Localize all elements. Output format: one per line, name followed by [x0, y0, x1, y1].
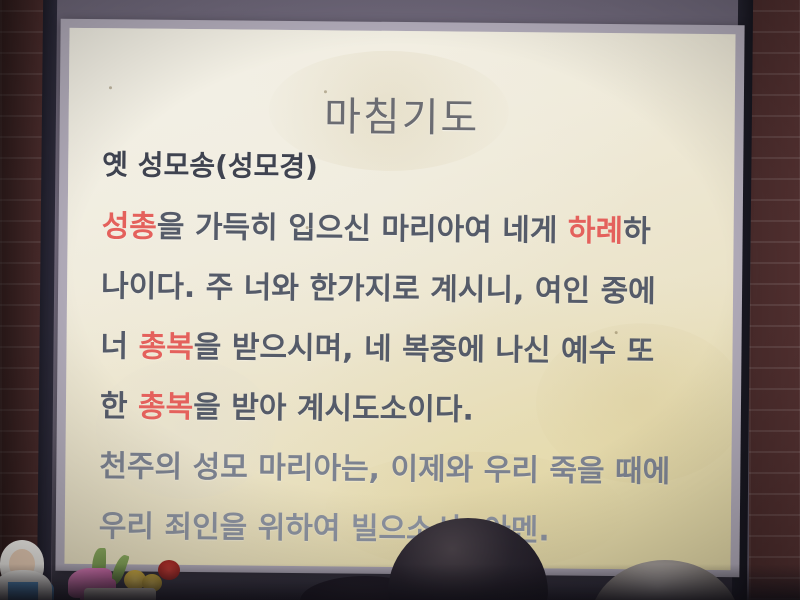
- highlighted-word: 총복: [138, 329, 194, 365]
- prayer-line-4: 한 총복을 받아 계시도소이다.: [100, 377, 713, 443]
- highlighted-word: 성총: [102, 209, 158, 245]
- prayer-line-5: 천주의 성모 마리아는, 이제와 우리 죽을 때에: [99, 437, 712, 503]
- text-run: 을 가득히 입으신 마리아여 네게: [157, 210, 568, 249]
- text-run: 을 받아 계시도소이다.: [193, 390, 474, 428]
- projection-screen-frame: 마침기도 옛 성모송(성모경) 성총을 가득히 입으신 마리아여 네게 하례하 …: [55, 19, 744, 578]
- foreground-shadow: [0, 564, 800, 600]
- text-run: 하: [623, 214, 651, 249]
- screenshot-root: 마침기도 옛 성모송(성모경) 성총을 가득히 입으신 마리아여 네게 하례하 …: [0, 0, 800, 600]
- slide-subtitle: 옛 성모송(성모경): [102, 143, 714, 189]
- highlighted-word: 총복: [138, 389, 194, 425]
- prayer-line-3: 너 총복을 받으시며, 네 복중에 나신 예수 또: [100, 317, 713, 383]
- highlighted-word: 하례: [568, 214, 624, 250]
- prayer-line-2: 나이다. 주 너와 한가지로 계시니, 여인 중에: [101, 257, 714, 323]
- text-run: 천주의 성모 마리아는, 이제와 우리 죽을 때에: [99, 449, 670, 489]
- text-run: 을 받으시며, 네 복중에 나신 예수 또: [194, 330, 655, 369]
- slide-body: 옛 성모송(성모경) 성총을 가득히 입으신 마리아여 네게 하례하 나이다. …: [98, 143, 714, 563]
- wall-shadow-right: [749, 0, 800, 600]
- prayer-line-1: 성총을 가득히 입으신 마리아여 네게 하례하: [101, 197, 714, 263]
- text-run: 나이다. 주 너와 한가지로 계시니, 여인 중에: [101, 269, 656, 309]
- slide-title: 마침기도: [69, 82, 736, 146]
- text-run: 너: [100, 329, 138, 364]
- text-run: 한: [100, 389, 138, 424]
- projected-slide: 마침기도 옛 성모송(성모경) 성총을 가득히 입으신 마리아여 네게 하례하 …: [64, 28, 735, 570]
